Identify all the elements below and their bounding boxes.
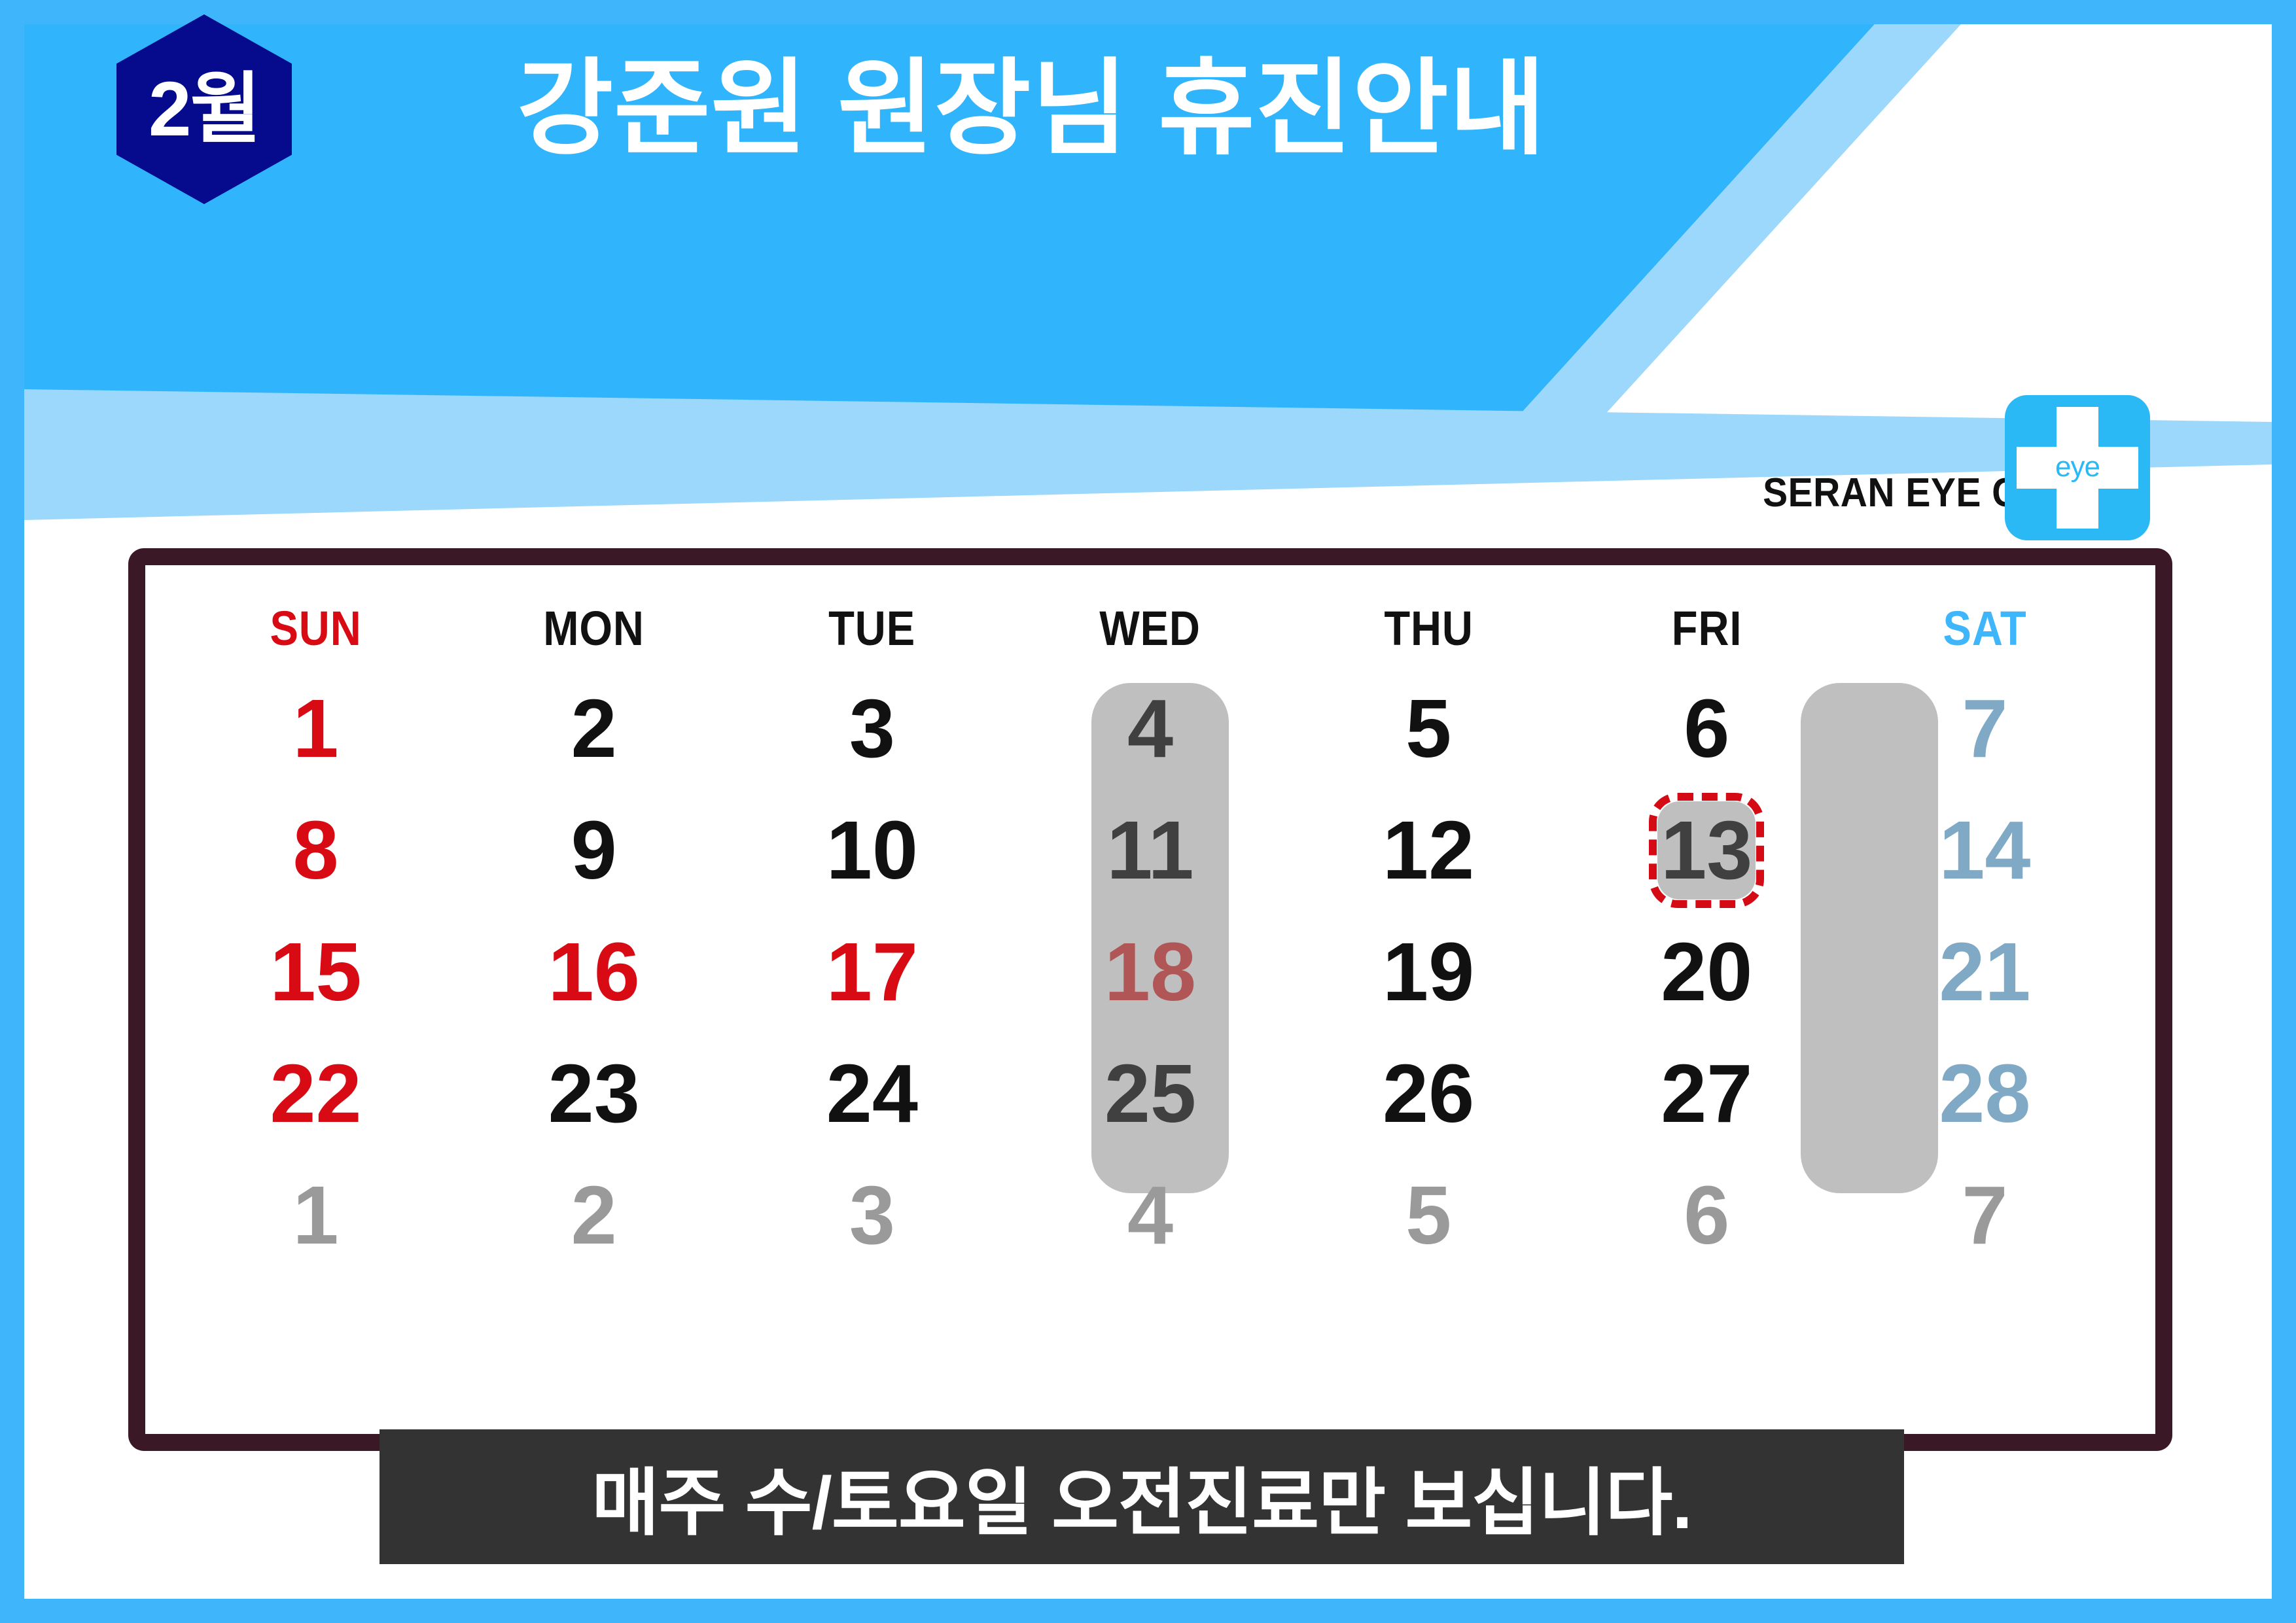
day-number: 22 <box>270 1047 361 1140</box>
calendar-day-cell[interactable]: 18 <box>1011 911 1289 1033</box>
calendar-day-cell[interactable]: 14 <box>1846 790 2124 911</box>
day-number: 13 <box>1661 804 1752 896</box>
day-number: 16 <box>548 926 640 1018</box>
day-number: 26 <box>1383 1047 1474 1140</box>
calendar-day-cell[interactable]: 7 <box>1846 668 2124 790</box>
calendar-day-cell[interactable]: 9 <box>455 790 733 911</box>
day-number: 2 <box>571 1169 617 1261</box>
day-number: 21 <box>1939 926 2030 1018</box>
day-number: 28 <box>1939 1047 2030 1140</box>
day-number: 15 <box>270 926 361 1018</box>
calendar-day-cell[interactable]: 5 <box>1290 668 1568 790</box>
calendar-day-cell[interactable]: 10 <box>733 790 1011 911</box>
day-number: 20 <box>1661 926 1752 1018</box>
calendar-day-cell[interactable]: 7 <box>1846 1155 2124 1276</box>
day-number: 14 <box>1939 804 2030 896</box>
day-number: 3 <box>849 682 895 775</box>
day-number: 8 <box>293 804 339 896</box>
month-badge-label: 2월 <box>149 71 260 148</box>
calendar-day-cell[interactable]: 2 <box>455 1155 733 1276</box>
calendar-grid: SUNMONTUEWEDTHUFRISAT1234567891011121314… <box>145 565 2155 1276</box>
day-number: 1 <box>293 682 339 775</box>
day-number: 6 <box>1684 1169 1729 1261</box>
calendar-day-cell[interactable]: 6 <box>1568 1155 1846 1276</box>
calendar-day-cell[interactable]: 8 <box>177 790 455 911</box>
day-number: 19 <box>1383 926 1474 1018</box>
calendar-day-cell[interactable]: 28 <box>1846 1033 2124 1155</box>
calendar-day-cell[interactable]: 13 <box>1568 790 1846 911</box>
calendar-day-cell[interactable]: 12 <box>1290 790 1568 911</box>
weekday-header-tue: TUE <box>750 565 995 668</box>
calendar-day-cell[interactable]: 27 <box>1568 1033 1846 1155</box>
day-number: 7 <box>1962 1169 2007 1261</box>
day-number: 5 <box>1405 1169 1451 1261</box>
day-number: 7 <box>1962 682 2007 775</box>
day-number: 24 <box>826 1047 918 1140</box>
day-number: 9 <box>571 804 617 896</box>
calendar-day-cell[interactable]: 15 <box>177 911 455 1033</box>
day-number: 5 <box>1405 682 1451 775</box>
calendar-day-cell[interactable]: 4 <box>1011 668 1289 790</box>
day-number: 10 <box>826 804 918 896</box>
day-number: 17 <box>826 926 918 1018</box>
day-number: 27 <box>1661 1047 1752 1140</box>
day-number: 23 <box>548 1047 640 1140</box>
day-number: 12 <box>1383 804 1474 896</box>
day-number: 2 <box>571 682 617 775</box>
logo-word-eye: eye <box>2005 453 2150 481</box>
day-number: 25 <box>1104 1047 1196 1140</box>
note-banner: 매주 수/토요일 오전진료만 보십니다. <box>380 1429 1904 1564</box>
page-title: 강준원 원장님 휴진안내 <box>517 48 1546 169</box>
calendar-day-cell[interactable]: 1 <box>177 1155 455 1276</box>
day-number: 6 <box>1684 682 1729 775</box>
weekday-header-sat: SAT <box>1862 565 2107 668</box>
medical-cross-icon: eye <box>2005 395 2150 540</box>
calendar-day-cell[interactable]: 17 <box>733 911 1011 1033</box>
calendar-day-cell[interactable]: 26 <box>1290 1033 1568 1155</box>
calendar-day-cell[interactable]: 24 <box>733 1033 1011 1155</box>
calendar-day-cell[interactable]: 21 <box>1846 911 2124 1033</box>
day-number: 18 <box>1104 926 1196 1018</box>
calendar-day-cell[interactable]: 25 <box>1011 1033 1289 1155</box>
weekday-header-sun: SUN <box>194 565 438 668</box>
calendar-day-cell[interactable]: 11 <box>1011 790 1289 911</box>
weekday-header-wed: WED <box>1028 565 1273 668</box>
weekday-header-fri: FRI <box>1584 565 1829 668</box>
calendar-card: SUNMONTUEWEDTHUFRISAT1234567891011121314… <box>128 548 2172 1451</box>
weekday-header-mon: MON <box>472 565 716 668</box>
calendar-day-cell[interactable]: 3 <box>733 668 1011 790</box>
calendar-day-cell[interactable]: 3 <box>733 1155 1011 1276</box>
note-text: 매주 수/토요일 오전진료만 보십니다. <box>592 1444 1691 1550</box>
day-number: 1 <box>293 1169 339 1261</box>
calendar-day-cell[interactable]: 6 <box>1568 668 1846 790</box>
calendar-day-cell[interactable]: 19 <box>1290 911 1568 1033</box>
day-number: 3 <box>849 1169 895 1261</box>
calendar-day-cell[interactable]: 5 <box>1290 1155 1568 1276</box>
calendar-day-cell[interactable]: 20 <box>1568 911 1846 1033</box>
calendar-day-cell[interactable]: 1 <box>177 668 455 790</box>
day-number: 4 <box>1127 682 1173 775</box>
calendar-day-cell[interactable]: 16 <box>455 911 733 1033</box>
calendar-day-cell[interactable]: 2 <box>455 668 733 790</box>
calendar-day-cell[interactable]: 4 <box>1011 1155 1289 1276</box>
closure-notice-poster: 2월 강준원 원장님 휴진안내 SERAN EYE CENTER eye SUN… <box>0 0 2296 1623</box>
calendar-day-cell[interactable]: 22 <box>177 1033 455 1155</box>
weekday-header-thu: THU <box>1306 565 1551 668</box>
day-number: 4 <box>1127 1169 1173 1261</box>
day-number: 11 <box>1106 804 1193 896</box>
calendar-day-cell[interactable]: 23 <box>455 1033 733 1155</box>
